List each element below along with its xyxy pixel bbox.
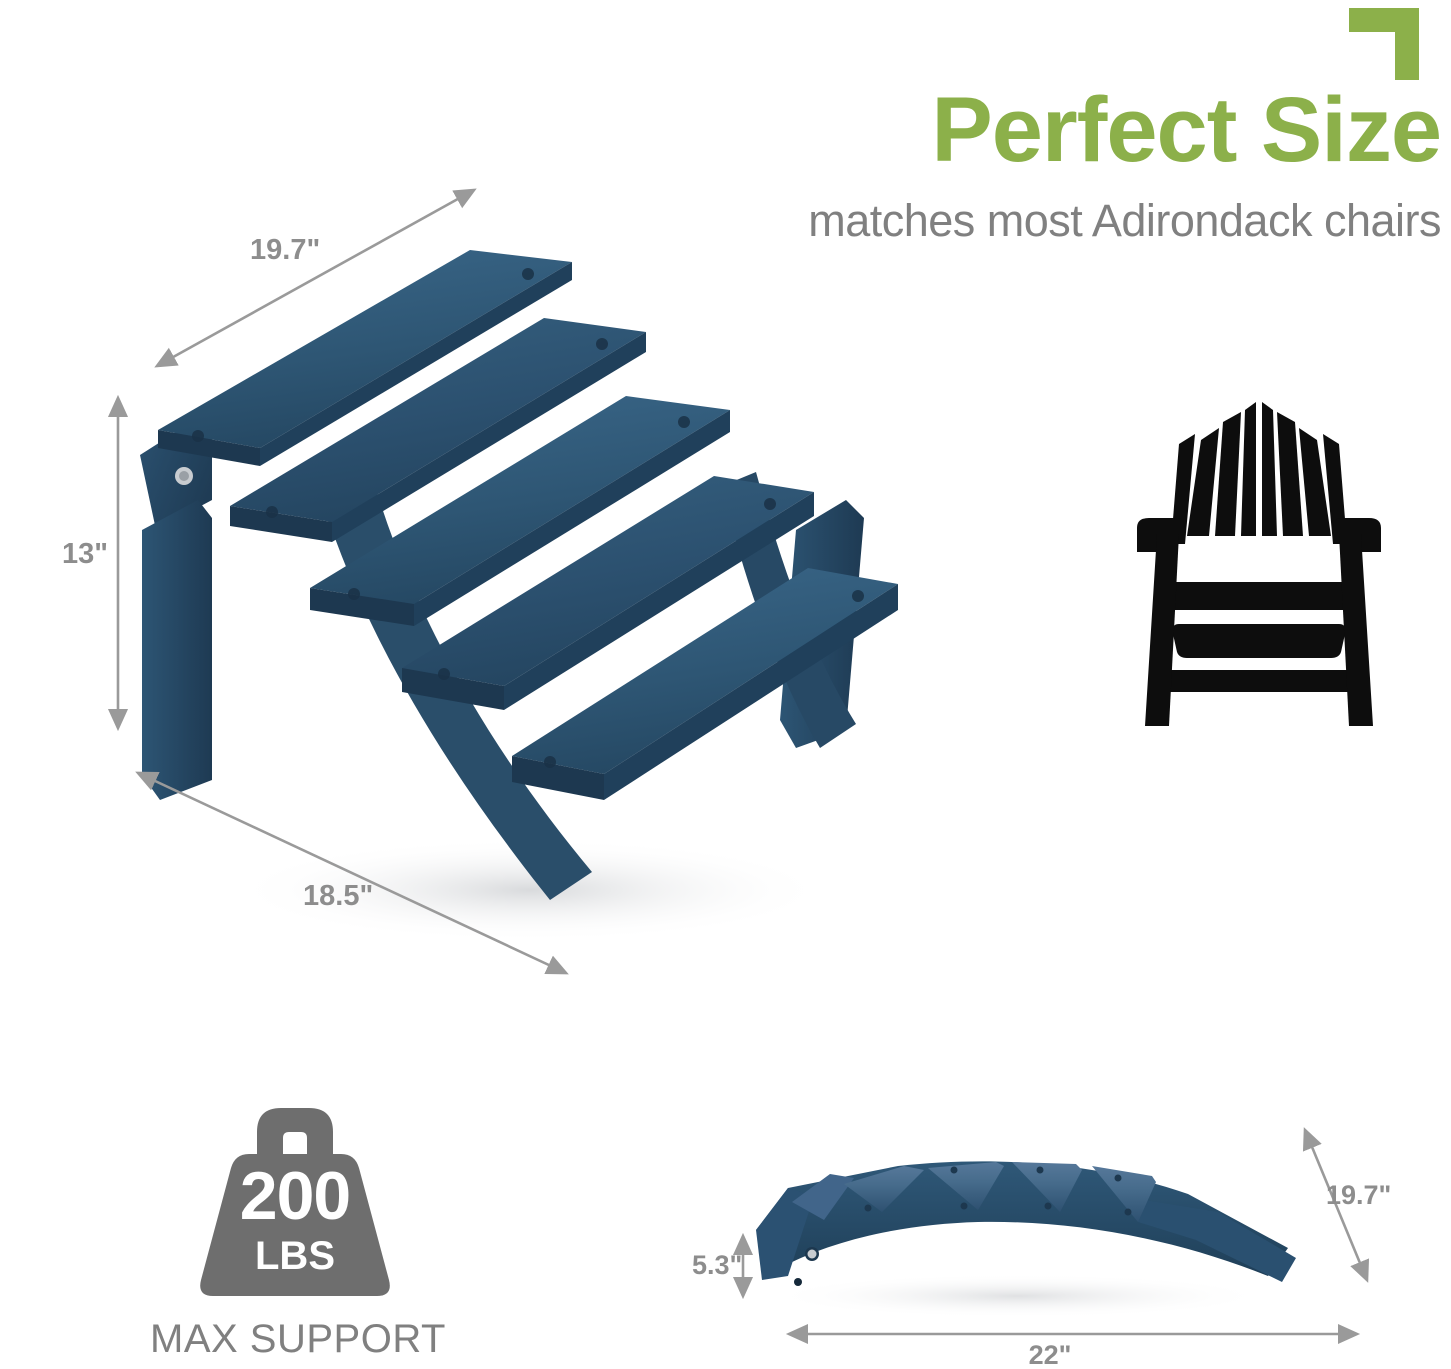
dimension-label-folded-width: 22" [1029,1340,1072,1369]
folded-peg-hole-b [1037,1167,1044,1174]
weight-unit: LBS [183,1236,407,1276]
ottoman-folded-render [748,1070,1328,1320]
folded-peg-hole-d [865,1205,872,1212]
dimension-label-height: 13" [62,538,108,571]
dimension-label-folded-depth: 19.7" [1326,1180,1391,1211]
ottoman-folded-shadow [768,1274,1268,1318]
dimension-label-depth: 18.5" [303,880,373,913]
adirondack-chair-icon [1123,384,1395,732]
folded-peg-hole-f [1045,1203,1052,1210]
dimension-label-width-top: 19.7" [250,234,320,267]
folded-peg-hole-c [1115,1175,1122,1182]
dimension-label-folded-height: 5.3" [692,1250,742,1281]
page-title: Perfect Size [671,84,1441,176]
left-rear-leg [142,500,212,800]
weight-kettlebell-icon: 200 LBS [183,1098,407,1303]
folded-peg-hole-e [961,1203,968,1210]
weight-value: 200 [183,1162,407,1230]
max-support-badge: 200 LBS MAX SUPPORT [150,1098,440,1362]
assembly-screw [175,467,193,485]
infographic-page: Perfect Size matches most Adirondack cha… [0,0,1451,1369]
folded-peg-hole-g [1125,1209,1132,1216]
corner-bracket-vertical-bar [1395,8,1419,80]
ottoman-open-render [120,200,920,960]
folded-peg-hole-a [951,1167,958,1174]
max-support-caption: MAX SUPPORT [150,1317,440,1362]
corner-bracket-icon [1349,8,1419,80]
